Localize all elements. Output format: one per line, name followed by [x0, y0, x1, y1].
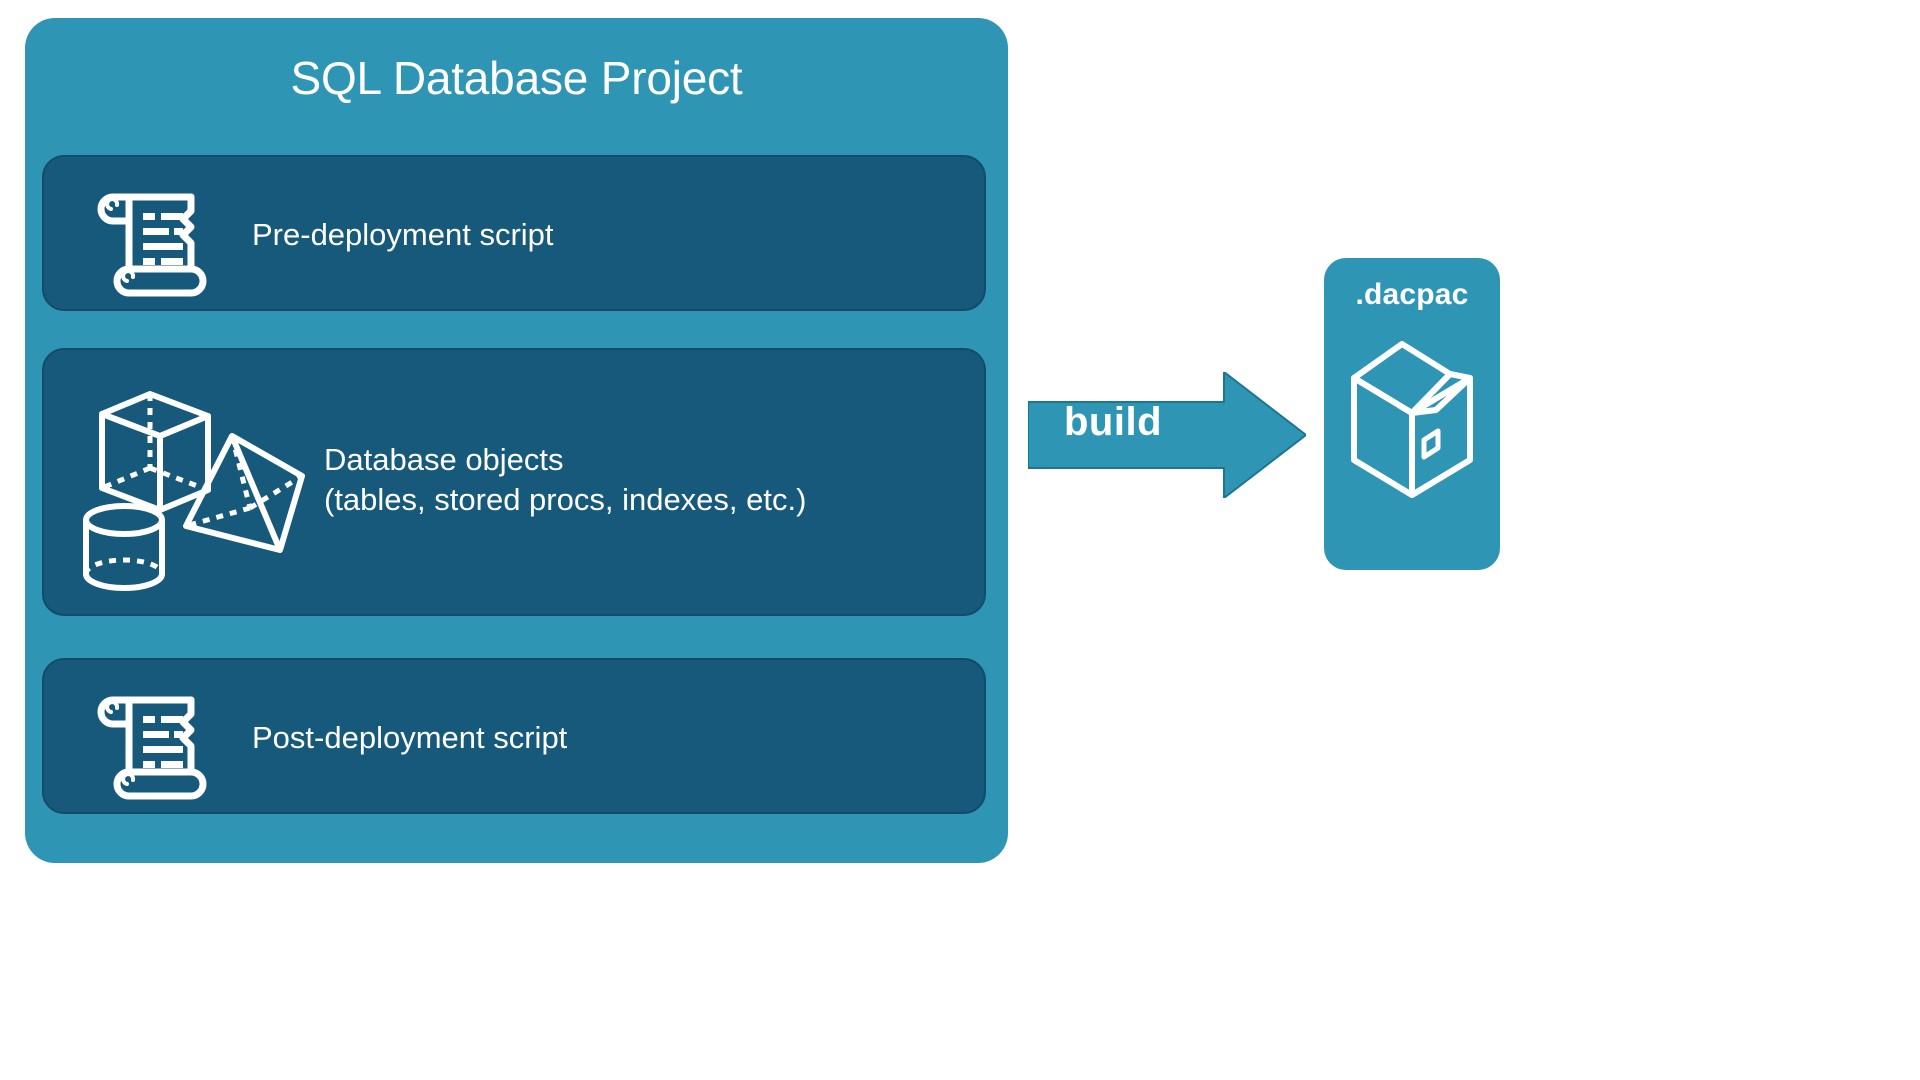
item-label: Pre-deployment script — [252, 215, 554, 255]
item-pre-deployment-script[interactable]: Pre-deployment script — [42, 155, 986, 311]
item-post-deployment-script[interactable]: Post-deployment script — [42, 658, 986, 814]
3d-shapes-icon — [64, 368, 314, 605]
item-label: Database objects (tables, stored procs, … — [324, 440, 806, 521]
dacpac-label: .dacpac — [1324, 278, 1500, 312]
sql-database-project-panel: SQL Database Project — [25, 18, 1008, 863]
diagram-canvas: SQL Database Project — [0, 0, 1920, 1080]
item-database-objects[interactable]: Database objects (tables, stored procs, … — [42, 348, 986, 616]
dacpac-output-card[interactable]: .dacpac — [1324, 258, 1500, 570]
scroll-icon — [81, 672, 213, 809]
scroll-icon — [81, 169, 213, 306]
item-label: Post-deployment script — [252, 718, 567, 758]
package-box-icon — [1346, 330, 1478, 525]
page-title: SQL Database Project — [25, 51, 1008, 105]
build-label: build — [1064, 400, 1244, 445]
